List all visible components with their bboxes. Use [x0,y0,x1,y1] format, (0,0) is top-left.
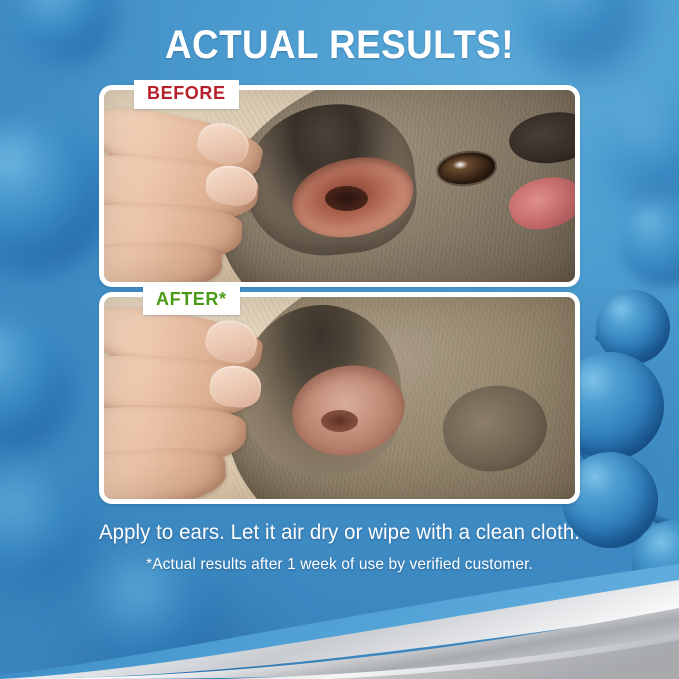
page-title: ACTUAL RESULTS! [27,23,652,68]
before-photo-card [99,85,580,287]
dog-ear-canal [325,186,367,211]
molecule-sphere [620,200,679,286]
before-photo [104,90,575,282]
instruction-text: Apply to ears. Let it air dry or wipe wi… [10,521,669,545]
before-label-tag: BEFORE [134,80,239,109]
molecule-sphere [608,96,679,204]
molecule-sphere [0,122,108,272]
after-photo-card [99,292,580,504]
finger [104,445,228,499]
human-hand [104,113,274,282]
bottom-swoosh-graphic [0,554,679,679]
promo-banner: ACTUAL RESULTS! [0,0,679,679]
molecule-sphere [596,290,670,364]
after-label-tag: AFTER* [143,286,240,315]
human-hand [104,321,274,499]
finger [104,241,223,282]
molecule-bond [579,448,608,489]
molecule-bond [594,310,635,343]
fingernail [208,363,263,409]
molecule-sphere [0,320,72,452]
after-photo [104,297,575,499]
